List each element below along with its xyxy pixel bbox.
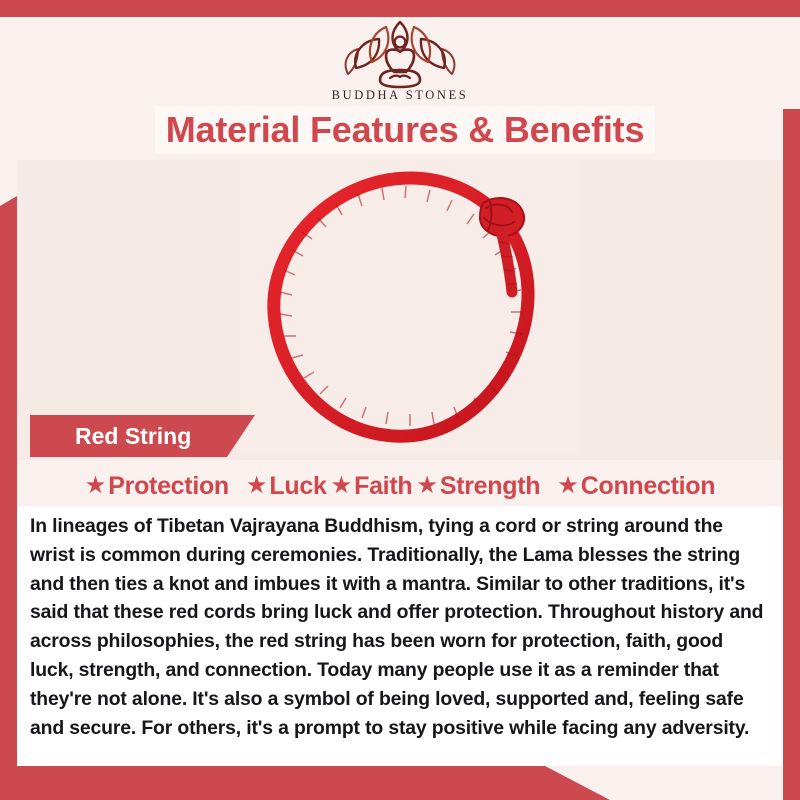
benefit-label: Luck [269,472,326,501]
star-icon: ★ [331,474,353,498]
poster-canvas: BUDDHA STONES Material Features & Benefi… [0,0,800,800]
brand-logo: BUDDHA STONES [310,18,490,103]
lotus-meditation-icon [336,18,464,90]
title-banner: Material Features & Benefits [155,106,655,154]
star-icon: ★ [85,474,107,498]
brand-name: BUDDHA STONES [310,88,490,103]
star-icon: ★ [557,474,579,498]
description-paragraph: In lineages of Tibetan Vajrayana Buddhis… [17,506,783,742]
benefit-label: Faith [354,472,412,501]
benefits-row: ★ Protection ★ Luck ★ Faith ★ Strength ★… [17,466,783,506]
top-red-band [0,0,800,17]
star-icon: ★ [246,474,268,498]
benefit-item-strength: ★ Strength [416,472,540,501]
benefit-item-connection: ★ Connection [557,472,715,501]
star-icon: ★ [416,474,438,498]
left-red-band [0,196,17,800]
benefit-item-luck: ★ Luck [246,472,327,501]
brand-header: BUDDHA STONES [0,17,800,109]
benefit-label: Protection [108,472,229,501]
benefit-item-faith: ★ Faith [331,472,413,501]
benefit-label: Connection [581,472,716,501]
bracelet-illustration [240,160,580,455]
description-panel: In lineages of Tibetan Vajrayana Buddhis… [17,506,783,766]
benefit-label: Strength [440,472,540,501]
benefit-item-protection: ★ Protection [85,472,229,501]
bottom-red-band [0,766,610,800]
red-string-bracelet-image [240,160,580,455]
material-name: Red String [75,423,191,450]
page-title: Material Features & Benefits [166,109,645,151]
right-red-band [783,0,800,800]
material-name-ribbon: Red String [30,415,255,457]
